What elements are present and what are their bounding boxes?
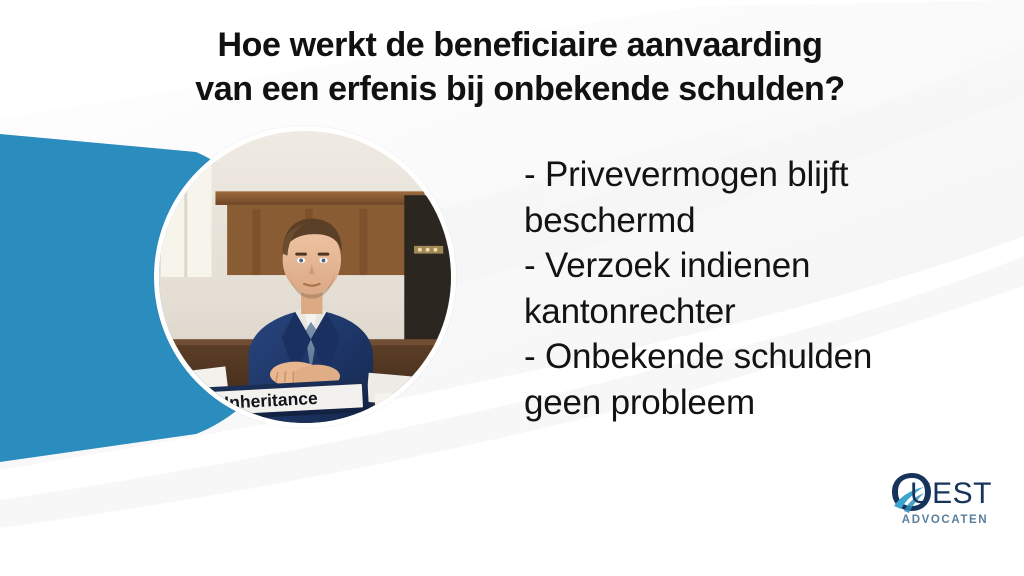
bullet-line-6: geen probleem [524,380,974,426]
page-title-line-2: van een erfenis bij onbekende schulden? [120,68,920,112]
portrait-photo-circle: te Inheritance [154,126,456,428]
page-title-line-1: Hoe werkt de beneficiaire aanvaarding [120,24,920,68]
bullet-line-3: - Verzoek indienen [524,243,974,289]
portrait-photo-illustration: te Inheritance [159,131,451,423]
bullet-line-1: - Privevermogen blijft [524,152,974,198]
bullet-line-2: beschermd [524,198,974,244]
bullet-list: - Privevermogen blijft beschermd - Verzo… [524,152,974,425]
quest-wordmark: UEST [884,472,1006,512]
slide-canvas: te Inheritance Hoe werkt de beneficiaire… [0,0,1024,576]
logo-subtitle: ADVOCATEN [884,514,1006,526]
page-title: Hoe werkt de beneficiaire aanvaarding va… [120,24,920,111]
quest-wordmark-text: UEST [910,477,992,510]
brand-logo: UEST ADVOCATEN [884,470,1006,536]
bullet-line-4: kantonrechter [524,289,974,335]
bullet-line-5: - Onbekende schulden [524,334,974,380]
